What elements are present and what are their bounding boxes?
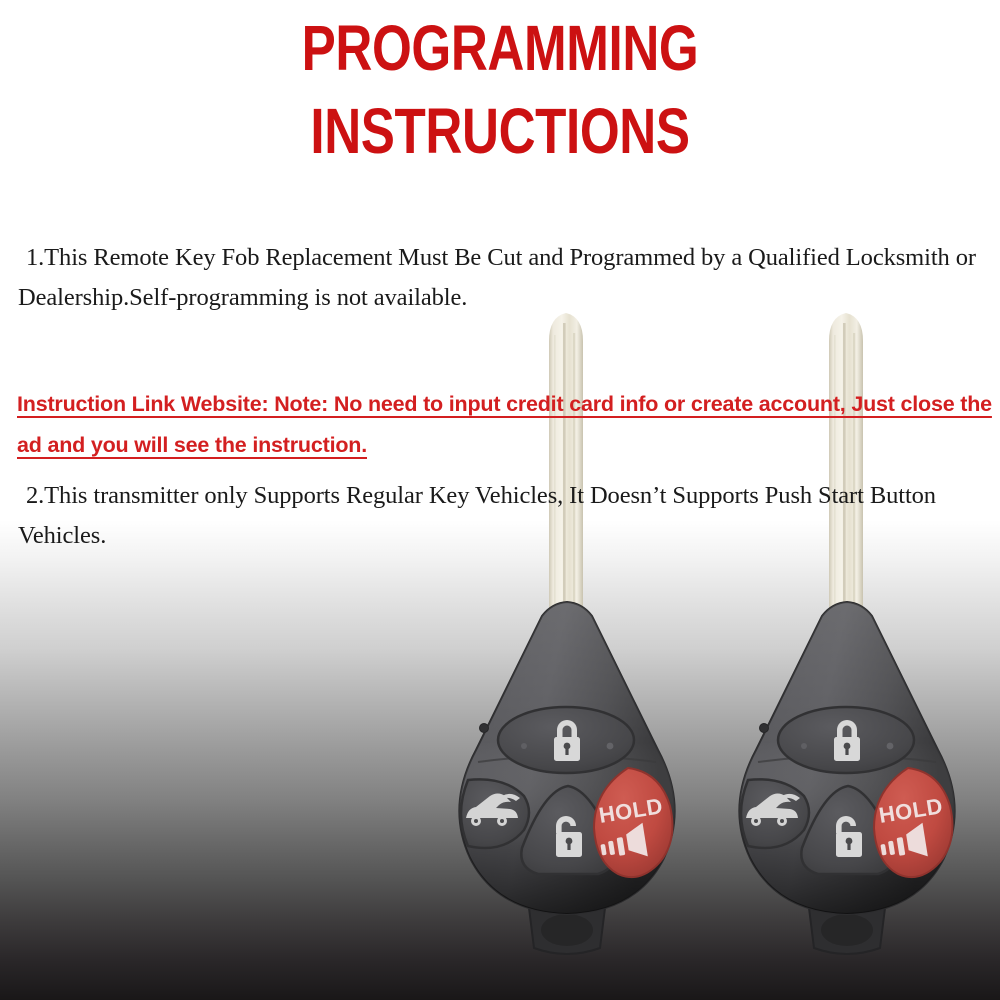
- page-title: PROGRAMMING INSTRUCTIONS: [100, 0, 900, 166]
- instruction-link-note-text[interactable]: Instruction Link Website: Note: No need …: [17, 392, 992, 457]
- lock-button[interactable]: [498, 707, 634, 773]
- instruction-item-2: 2.This transmitter only Supports Regular…: [0, 476, 1000, 556]
- instruction-item-1-text: 1.This Remote Key Fob Replacement Must B…: [18, 244, 976, 311]
- instruction-item-2-text: 2.This transmitter only Supports Regular…: [18, 482, 936, 549]
- lock-button[interactable]: [778, 707, 914, 773]
- instruction-link-note[interactable]: Instruction Link Website: Note: No need …: [0, 384, 1000, 466]
- programming-instructions-page: HOLD: [0, 0, 1000, 1000]
- instruction-item-1: 1.This Remote Key Fob Replacement Must B…: [0, 238, 1000, 318]
- key-fob-left[interactable]: HOLD: [432, 600, 702, 1000]
- key-fob-right[interactable]: HOLD: [712, 600, 982, 1000]
- page-title-line-1: PROGRAMMING: [302, 12, 699, 84]
- page-title-line-2: INSTRUCTIONS: [100, 97, 900, 166]
- instructions-content: PROGRAMMING INSTRUCTIONS 1.This Remote K…: [0, 0, 1000, 166]
